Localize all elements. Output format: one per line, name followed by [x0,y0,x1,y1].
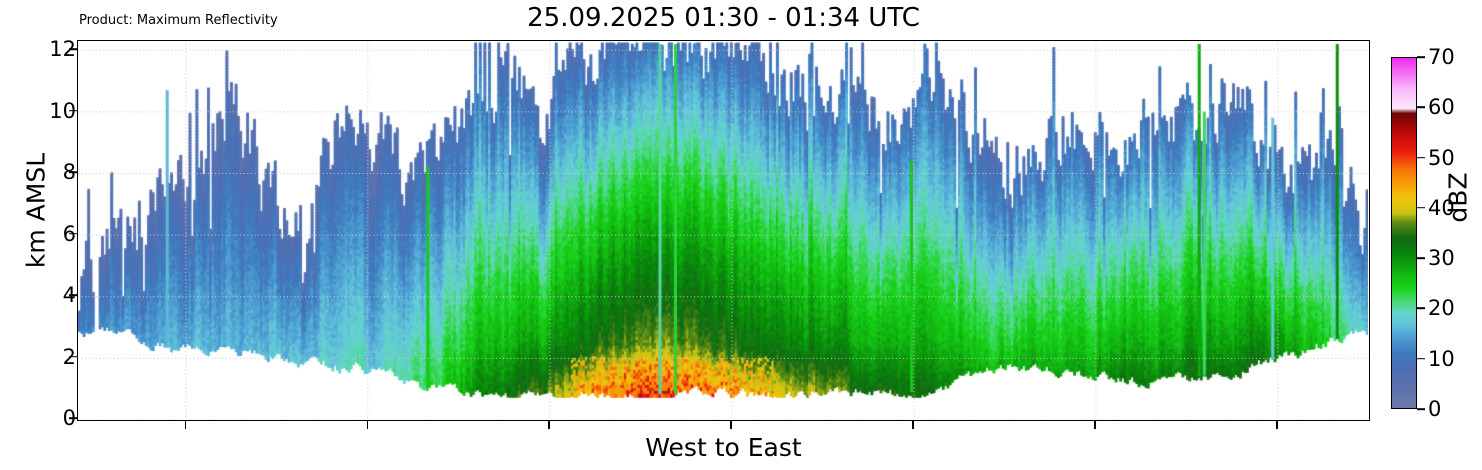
colorbar-tick-mark [1417,257,1425,259]
x-tick-mark [185,421,187,429]
plot-area [77,40,1370,421]
y-tick-label: 8 [16,160,76,184]
y-tick-label: 2 [16,345,76,369]
page-title: 25.09.2025 01:30 - 01:34 UTC [77,4,1370,33]
colorbar-tick-mark [1417,106,1425,108]
colorbar-tick-label: 70 [1428,45,1455,69]
colorbar-tick-label: 10 [1428,347,1455,371]
y-tick-label: 12 [16,37,76,61]
colorbar [1391,57,1417,409]
colorbar-tick-label: 60 [1428,95,1455,119]
colorbar-gradient [1391,57,1417,409]
colorbar-tick-mark [1417,157,1425,159]
reflectivity-heatmap [78,41,1368,419]
x-tick-mark [1094,421,1096,429]
colorbar-unit-label: dBZ [1444,138,1473,258]
y-tick-label: 4 [16,283,76,307]
y-tick-label: 10 [16,99,76,123]
colorbar-tick-mark [1417,56,1425,58]
colorbar-tick-label: 0 [1428,397,1441,421]
colorbar-tick-mark [1417,358,1425,360]
colorbar-tick-label: 20 [1428,296,1455,320]
colorbar-tick-mark [1417,308,1425,310]
y-tick-label: 0 [16,406,76,430]
colorbar-tick-mark [1417,207,1425,209]
x-tick-mark [548,421,550,429]
x-tick-mark [1276,421,1278,429]
x-axis-label: West to East [77,433,1370,462]
x-tick-mark [367,421,369,429]
y-axis-label: km AMSL [22,111,51,311]
x-tick-mark [730,421,732,429]
colorbar-tick-mark [1417,408,1425,410]
y-tick-label: 6 [16,222,76,246]
x-tick-mark [912,421,914,429]
radar-cross-section-figure: Product: Maximum Reflectivity 25.09.2025… [0,0,1482,470]
